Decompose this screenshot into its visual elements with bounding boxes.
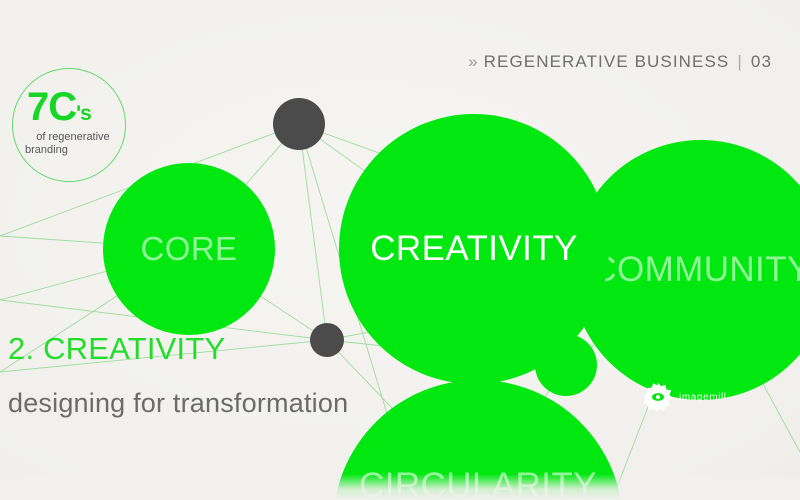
header-title: REGENERATIVE BUSINESS [484,52,730,72]
page-title: 2. CREATIVITY [8,332,348,366]
header-separator: | [736,52,744,72]
slide-canvas: CORE CIRCULARITY COMMUNITY CREATIVITY » … [0,0,800,500]
bubble-circularity-label: CIRCULARITY [359,466,597,500]
imagemill-logo: imagemill [643,382,727,412]
seven-cs-badge: 7C's of regenerative branding [12,68,126,182]
header: » REGENERATIVE BUSINESS | 03 [468,52,772,72]
bubble-creativity-label: CREATIVITY [370,229,578,269]
starburst-eye-icon [643,382,673,412]
bubble-circularity[interactable]: CIRCULARITY [333,380,623,500]
imagemill-wordmark: imagemill [679,392,727,403]
badge-mark-main: 7C [27,85,76,129]
title-block: 2. CREATIVITY designing for transformati… [8,332,348,419]
badge-subtitle-line1: of regenerative [36,131,109,143]
slide-number: 03 [751,52,772,72]
badge-mark: 7C's [27,87,91,127]
badge-subtitle: of regenerative branding [21,131,125,157]
chevron-right-icon: » [468,52,476,72]
bubble-core-label: CORE [141,230,238,268]
node-dark-top[interactable] [273,98,325,150]
bubble-creativity[interactable]: CREATIVITY [339,114,609,384]
bubble-core[interactable]: CORE [103,163,275,335]
badge-mark-suffix: 's [76,102,91,125]
bubble-community-label: COMMUNITY [591,250,800,290]
page-subtitle: designing for transformation [8,388,348,419]
badge-subtitle-line2: branding [21,144,125,157]
